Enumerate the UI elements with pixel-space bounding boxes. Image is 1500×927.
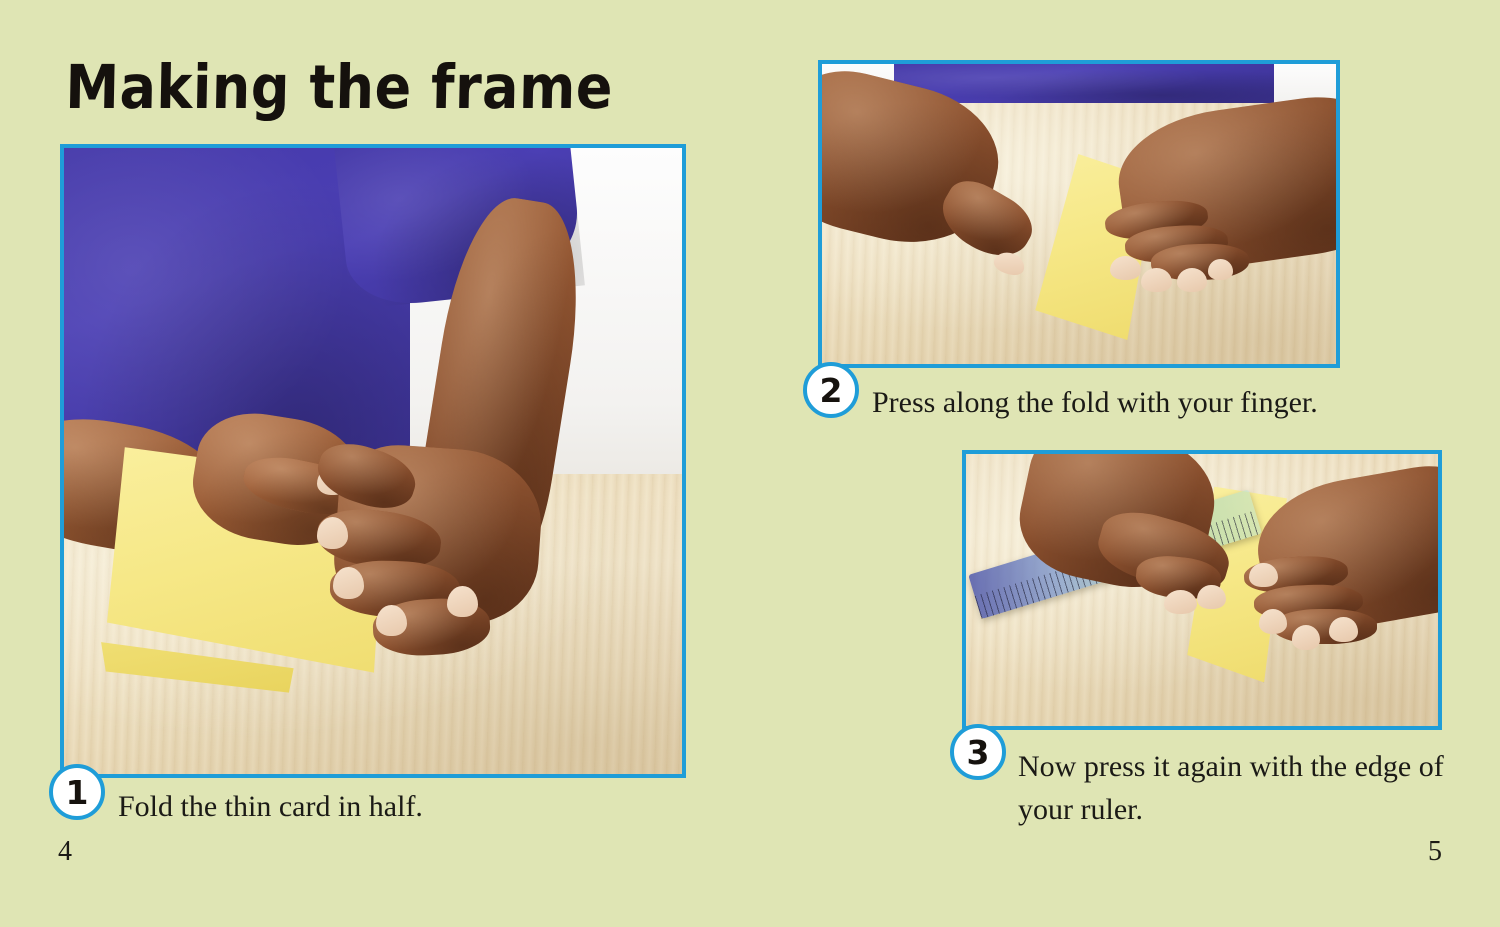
step-3-number-badge: 3 xyxy=(950,724,1006,780)
right-hand-nail-a xyxy=(1249,563,1277,587)
right-hand-nail-d xyxy=(1208,259,1234,280)
right-hand-nail-a xyxy=(1110,256,1141,280)
right-hand-nail-d xyxy=(1329,617,1357,641)
step-3-photo-scene xyxy=(966,454,1438,726)
left-index-nail xyxy=(1197,585,1225,609)
right-hand-nail-c xyxy=(1177,268,1208,292)
step-3-photo xyxy=(962,450,1442,730)
right-hand-nail-c xyxy=(1292,625,1320,649)
page-number-left: 4 xyxy=(58,836,72,868)
step-2-caption: Press along the fold with your finger. xyxy=(872,382,1318,425)
right-hand-nail-c xyxy=(376,605,407,636)
step-3-caption: Now press it again with the edge of your… xyxy=(1018,746,1448,831)
step-1-photo xyxy=(60,144,686,778)
right-hand-nail-b xyxy=(1259,609,1287,633)
right-hand-nail-d xyxy=(447,586,478,617)
step-1-photo-scene xyxy=(64,148,682,774)
step-1-number-badge: 1 xyxy=(49,764,105,820)
left-thumb-nail xyxy=(1164,590,1197,614)
step-2-number-badge: 2 xyxy=(803,362,859,418)
right-hand-nail-b xyxy=(333,567,364,598)
step-1-caption: Fold the thin card in half. xyxy=(118,786,423,829)
right-hand-nail-b xyxy=(1141,268,1172,292)
book-spread-page: Making the frame xyxy=(0,0,1500,927)
right-hand-finger-3 xyxy=(1273,609,1377,644)
blue-tshirt-hem xyxy=(894,64,1274,103)
page-number-right: 5 xyxy=(1428,836,1442,868)
step-2-photo xyxy=(818,60,1340,368)
step-2-photo-scene xyxy=(822,64,1336,364)
page-title: Making the frame xyxy=(65,52,614,123)
right-hand-nail-a xyxy=(317,517,348,548)
